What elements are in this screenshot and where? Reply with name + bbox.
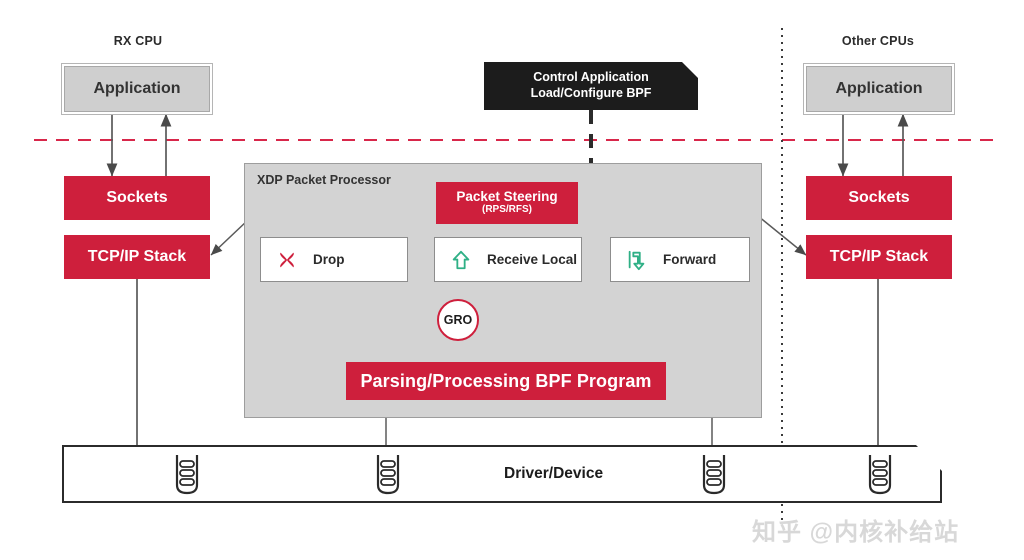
tcpip-stack-label-right: TCP/IP Stack	[830, 248, 928, 266]
rx-queue-icon-3[interactable]	[699, 452, 729, 496]
action-box-receive-local[interactable]: Receive Local	[434, 237, 582, 282]
sockets-label-right: Sockets	[848, 189, 909, 207]
up-arrow-icon	[449, 248, 473, 272]
driver-device-label: Driver/Device	[504, 465, 603, 483]
x-mark-icon	[275, 248, 299, 272]
forward-turn-arrow-icon	[625, 248, 649, 272]
group-label-other-cpus: Other CPUs	[818, 32, 938, 50]
application-box-left[interactable]: Application	[64, 66, 210, 112]
rx-queue-icon-1[interactable]	[172, 452, 202, 496]
driver-device-bar[interactable]: Driver/Device	[62, 445, 942, 503]
packet-steering-sublabel: (RPS/RFS)	[482, 205, 532, 216]
application-label-right: Application	[835, 80, 922, 98]
control-application-line1: Control Application	[533, 70, 649, 86]
action-label-receive-local: Receive Local	[487, 252, 577, 267]
application-box-right[interactable]: Application	[806, 66, 952, 112]
group-label-rx-cpu: RX CPU	[78, 32, 198, 50]
bpf-program-box[interactable]: Parsing/Processing BPF Program	[346, 362, 666, 400]
bpf-program-label: Parsing/Processing BPF Program	[360, 371, 651, 392]
action-box-forward[interactable]: Forward	[610, 237, 750, 282]
tcpip-stack-box-left[interactable]: TCP/IP Stack	[64, 235, 210, 279]
tcpip-stack-label-left: TCP/IP Stack	[88, 248, 186, 266]
packet-steering-label: Packet Steering	[456, 190, 557, 204]
action-label-drop: Drop	[313, 252, 345, 267]
rx-queue-icon-4[interactable]	[865, 452, 895, 496]
packet-steering-box[interactable]: Packet Steering (RPS/RFS)	[436, 182, 578, 224]
sockets-label-left: Sockets	[106, 189, 167, 207]
tcpip-stack-box-right[interactable]: TCP/IP Stack	[806, 235, 952, 279]
action-box-drop[interactable]: Drop	[260, 237, 408, 282]
control-application-box[interactable]: Control Application Load/Configure BPF	[484, 62, 698, 110]
gro-node[interactable]: GRO	[437, 299, 479, 341]
sockets-box-right[interactable]: Sockets	[806, 176, 952, 220]
watermark-text: 知乎 @内核补给站	[752, 512, 959, 547]
rx-queue-icon-2[interactable]	[373, 452, 403, 496]
xdp-packet-processor-title: XDP Packet Processor	[257, 173, 391, 187]
gro-label: GRO	[444, 313, 472, 327]
application-label-left: Application	[93, 80, 180, 98]
diagram-canvas: RX CPU Other CPUs Application Sockets TC…	[0, 0, 1024, 560]
control-application-line2: Load/Configure BPF	[531, 86, 652, 102]
action-label-forward: Forward	[663, 252, 716, 267]
sockets-box-left[interactable]: Sockets	[64, 176, 210, 220]
